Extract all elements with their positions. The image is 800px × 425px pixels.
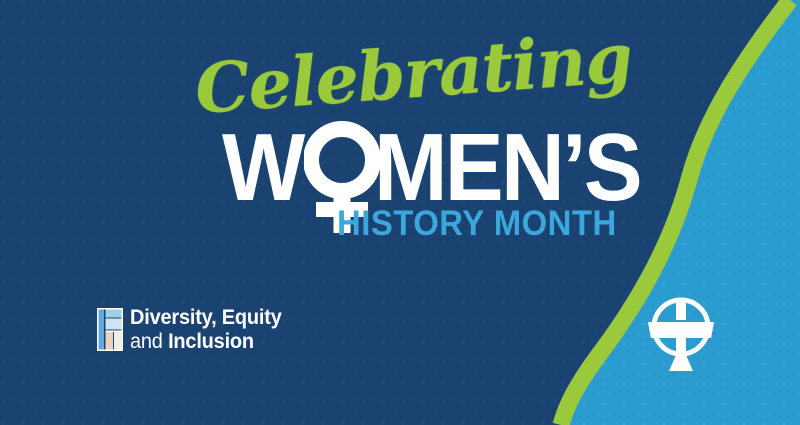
script-celebrating: Celebrating (193, 34, 497, 124)
dei-line-2: and Inclusion (130, 331, 282, 352)
headline-group: Celebrating W MEN’S HISTORY MONTH (0, 0, 640, 270)
womens-letters-mens: MEN’S (374, 122, 640, 213)
venus-symbol-icon (308, 122, 376, 214)
dei-line-2-light: and (130, 330, 168, 353)
pcusa-cross-icon (645, 293, 717, 373)
womens-wordmark: W MEN’S (222, 122, 663, 214)
womens-letter-w: W (222, 122, 303, 213)
women-history-month-banner: Celebrating W MEN’S HISTORY MONTH (0, 0, 800, 425)
dei-building-mark-icon (97, 308, 123, 351)
dei-logo-lockup: Diversity, Equity and Inclusion (97, 306, 290, 352)
dei-logo-text: Diversity, Equity and Inclusion (130, 306, 290, 352)
dei-line-2-bold: Inclusion (168, 330, 254, 353)
dei-line-1: Diversity, Equity (130, 307, 282, 328)
subtitle-history-month: HISTORY MONTH (337, 206, 617, 241)
